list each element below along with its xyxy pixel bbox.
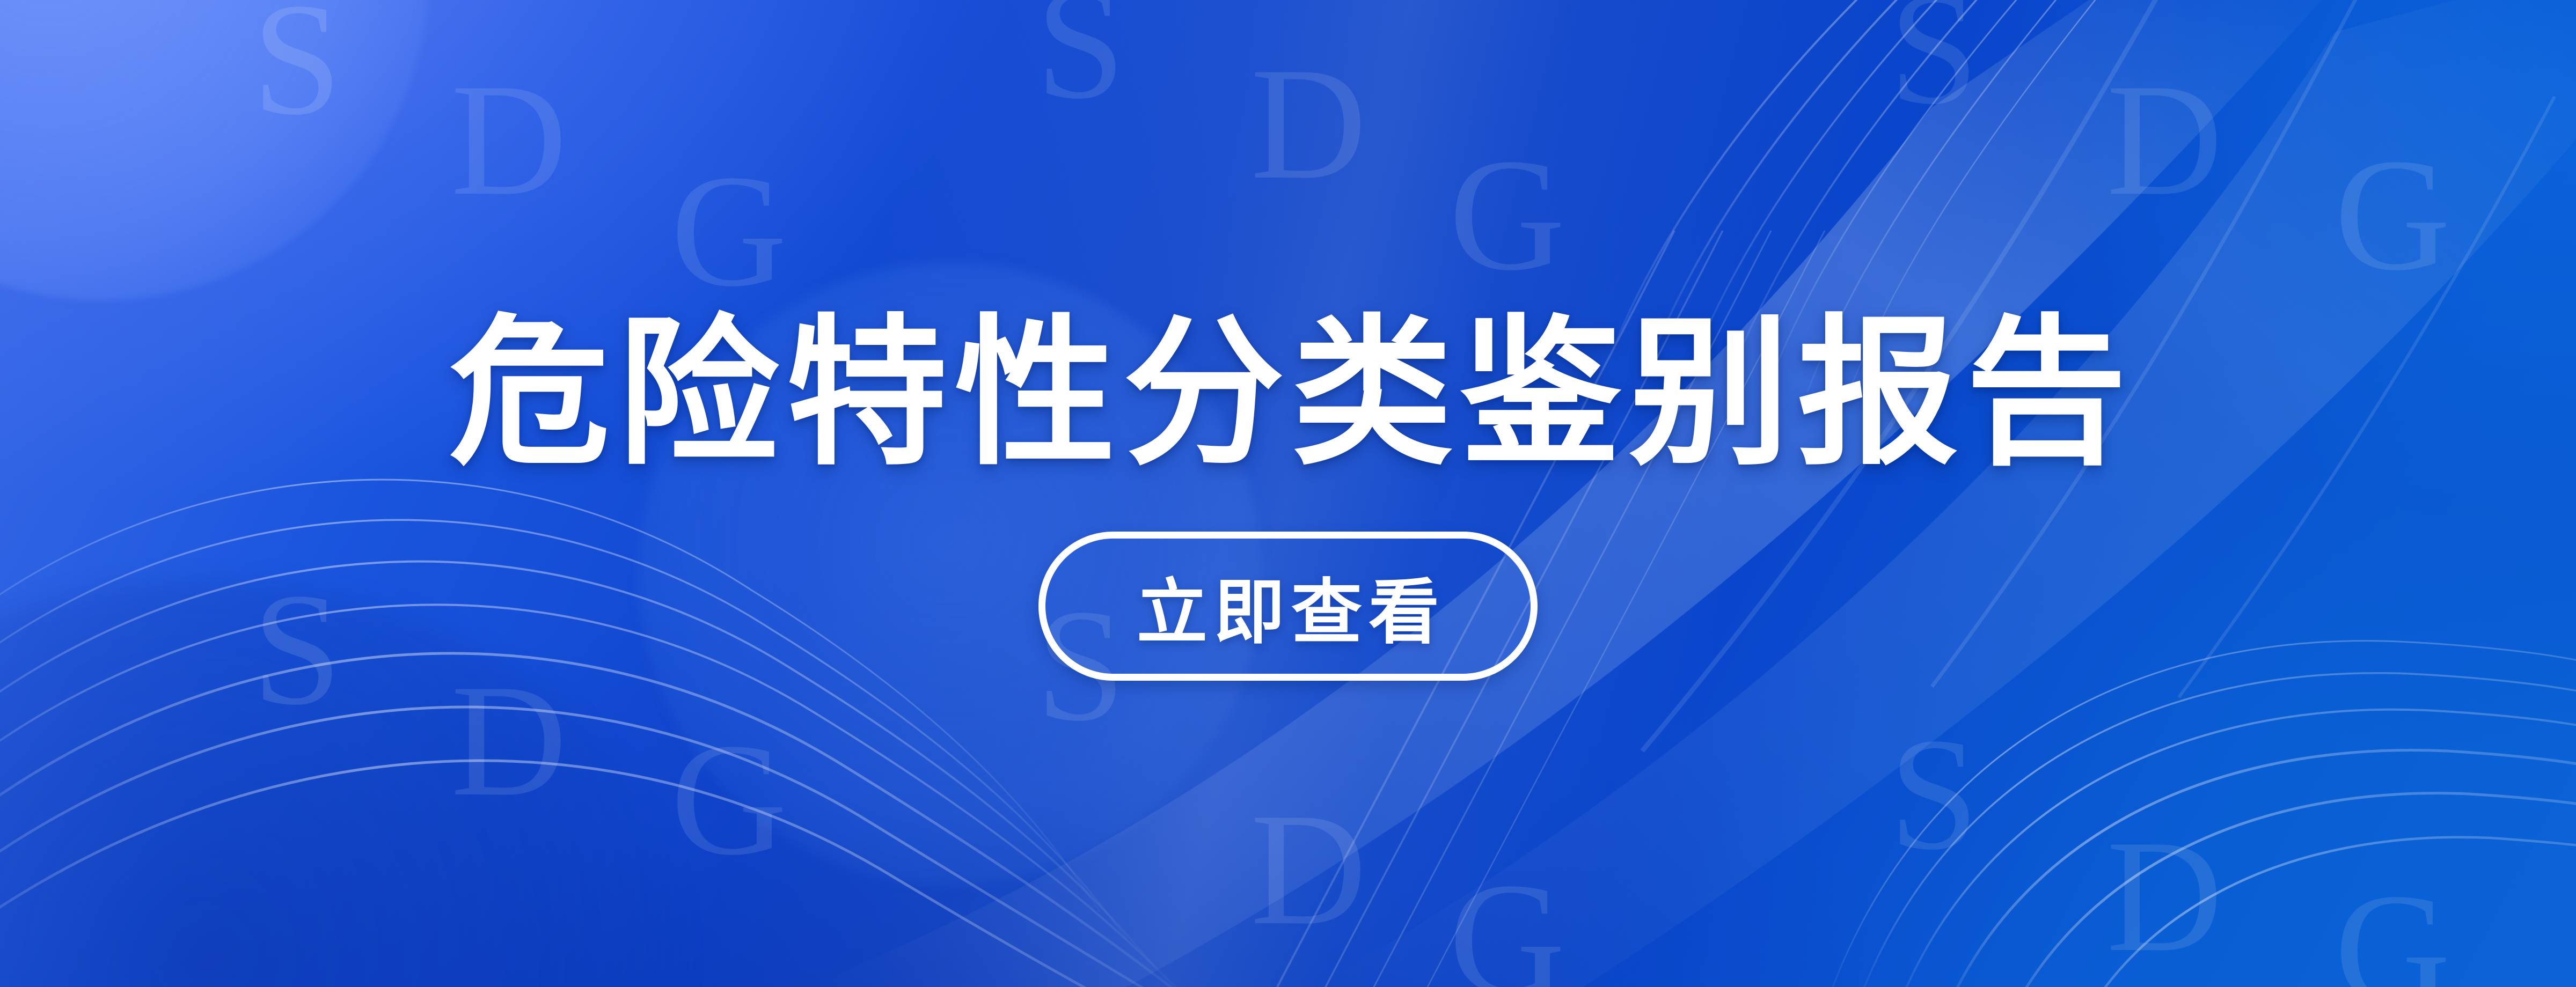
banner-headline: 危险特性分类鉴别报告 (449, 306, 2134, 480)
promo-banner: SSSDDDGGGSSSDDDGGG 危险特性分类鉴别报告 立即查看 (0, 0, 2576, 987)
cta-container: 立即查看 (1038, 532, 1538, 681)
banner-content: 危险特性分类鉴别报告 立即查看 (0, 0, 2576, 987)
view-now-button[interactable]: 立即查看 (1038, 532, 1538, 681)
